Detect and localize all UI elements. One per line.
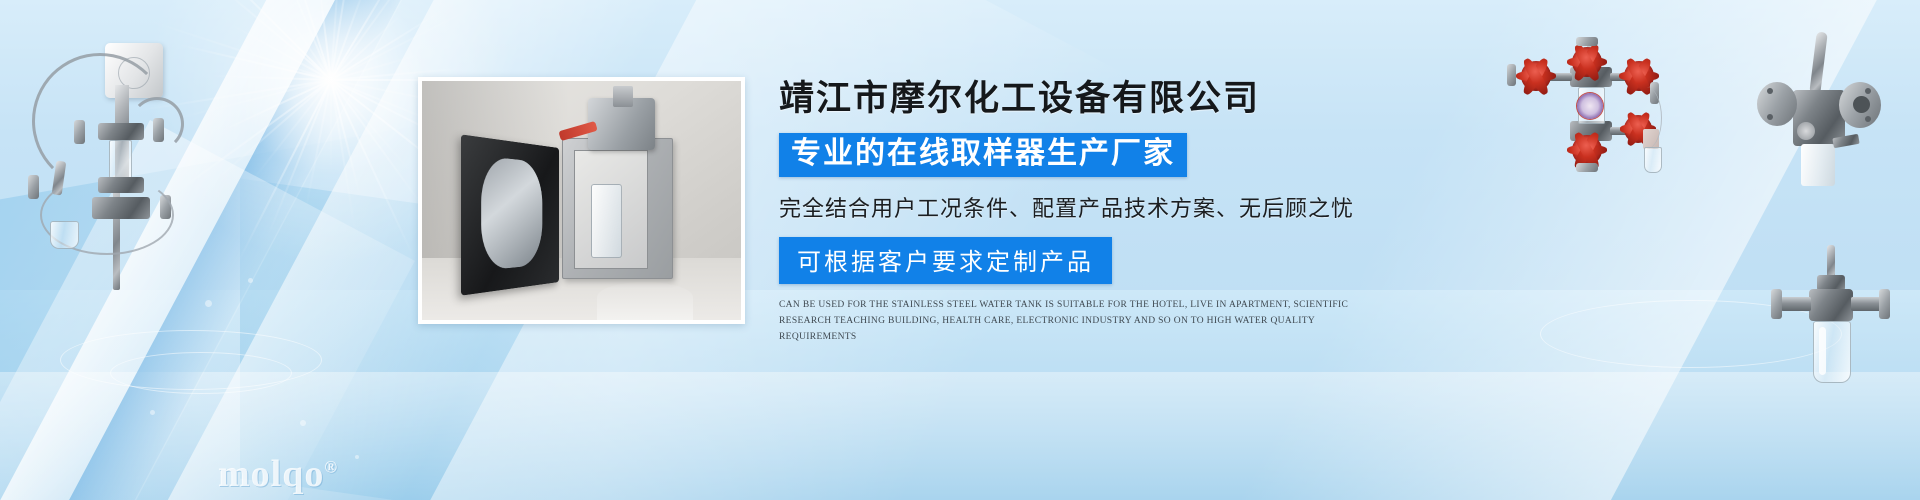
flanged-valve-bolt-4 xyxy=(1865,116,1871,122)
subline-text: 完全结合用户工况条件、配置产品技术方案、无后顾之忧 xyxy=(779,191,1399,223)
cross-flange-left xyxy=(1507,64,1516,86)
left-sample-bottle xyxy=(50,221,79,249)
headline-badge: 专业的在线取样器生产厂家 xyxy=(779,133,1187,177)
photo-sample-bottle xyxy=(591,184,622,258)
bottom-valve-body xyxy=(1809,289,1853,321)
photo-content xyxy=(422,81,741,320)
bubble-3 xyxy=(300,420,306,426)
photo-cabinet-door xyxy=(462,134,560,295)
left-tube-arc-right xyxy=(130,97,184,151)
photo-cabinet-interior xyxy=(574,150,648,268)
red-handwheel-top xyxy=(1572,47,1602,77)
cross-drain-tube xyxy=(1631,87,1662,149)
water-ripple-2 xyxy=(110,352,292,394)
bubble-5 xyxy=(150,410,155,415)
headline-row: 专业的在线取样器生产厂家 xyxy=(779,133,1399,177)
right-bottom-valve-illustration xyxy=(1765,245,1905,395)
flanged-valve-bolt-2 xyxy=(1767,114,1773,120)
flanged-valve-nameplate-icon xyxy=(1797,122,1815,140)
bottom-valve-flange-right xyxy=(1879,289,1890,319)
bottom-valve-pipe-left xyxy=(1781,297,1811,311)
left-flange-d xyxy=(28,175,39,199)
photo-door-window xyxy=(482,156,542,271)
banner-text-block: 靖江市摩尔化工设备有限公司 专业的在线取样器生产厂家 完全结合用户工况条件、配置… xyxy=(779,70,1399,354)
company-title: 靖江市摩尔化工设备有限公司 xyxy=(779,70,1399,121)
red-handwheel-bottom xyxy=(1572,135,1602,165)
right-cross-valve-illustration xyxy=(1498,35,1693,180)
watermark-text: molqo xyxy=(218,453,324,495)
photo-valve-stem xyxy=(613,86,632,108)
tagline-row: 可根据客户要求定制产品 xyxy=(779,223,1399,284)
bubble-1 xyxy=(205,300,212,307)
bottom-valve-pipe-right xyxy=(1851,297,1881,311)
cross-flange-top xyxy=(1576,37,1598,46)
flanged-valve-flange-left xyxy=(1757,82,1797,126)
bottom-valve-flange-left xyxy=(1771,289,1782,319)
promo-banner: 靖江市摩尔化工设备有限公司 专业的在线取样器生产厂家 完全结合用户工况条件、配置… xyxy=(0,0,1920,500)
flanged-valve-bolt-1 xyxy=(1767,88,1773,94)
red-handwheel-left xyxy=(1521,61,1551,91)
bubble-2 xyxy=(248,278,253,283)
flanged-valve-bolt-3 xyxy=(1865,88,1871,94)
english-description: CAN BE USED FOR THE STAINLESS STEEL WATE… xyxy=(779,297,1381,345)
flanged-valve-bottle xyxy=(1801,144,1835,186)
photo-cabinet xyxy=(562,138,672,279)
certification-seal-icon xyxy=(1577,93,1603,119)
watermark-logo: molqo® xyxy=(218,452,338,496)
bubble-4 xyxy=(355,455,359,459)
registered-trademark-icon: ® xyxy=(324,457,338,476)
flanged-valve-lever xyxy=(1809,32,1827,95)
flanged-valve-bore xyxy=(1853,96,1870,113)
left-product-illustration xyxy=(10,25,200,290)
bottom-valve-bottle-highlight xyxy=(1819,327,1826,375)
cross-flange-bottom xyxy=(1576,163,1598,172)
right-flanged-valve-illustration xyxy=(1755,30,1910,185)
tagline-badge: 可根据客户要求定制产品 xyxy=(779,237,1112,284)
photo-pedestal xyxy=(597,282,693,320)
center-product-photo xyxy=(418,77,745,324)
cross-sample-bottle xyxy=(1644,147,1662,173)
